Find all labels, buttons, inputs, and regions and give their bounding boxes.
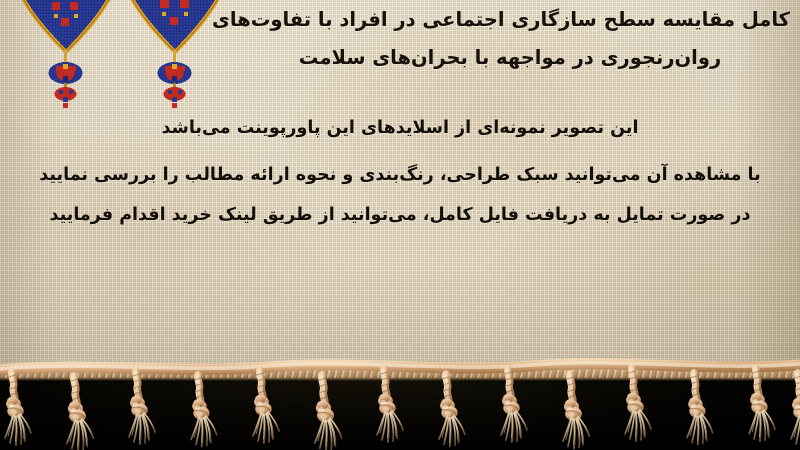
body-line-2: با مشاهده آن می‌توانید سبک طراحی، رنگ‌بن…: [18, 155, 782, 195]
title-line-1: کامل مقایسه سطح سازگاری اجتماعی در افراد…: [230, 1, 790, 39]
body-line-3: در صورت تمایل به دریافت فایل کامل، می‌تو…: [18, 195, 782, 235]
slide-title: کامل مقایسه سطح سازگاری اجتماعی در افراد…: [230, 1, 790, 77]
slide-body: این تصویر نمونه‌ای از اسلایدهای این پاور…: [18, 108, 782, 235]
bottom-black-band: [0, 372, 800, 450]
carpet-selvage-twist: [0, 366, 800, 378]
body-line-1: این تصویر نمونه‌ای از اسلایدهای این پاور…: [18, 108, 782, 148]
title-line-2: روان‌رنجوری در مواجهه با بحران‌های سلامت: [230, 39, 790, 77]
presentation-slide: کامل مقایسه سطح سازگاری اجتماعی در افراد…: [0, 0, 800, 450]
